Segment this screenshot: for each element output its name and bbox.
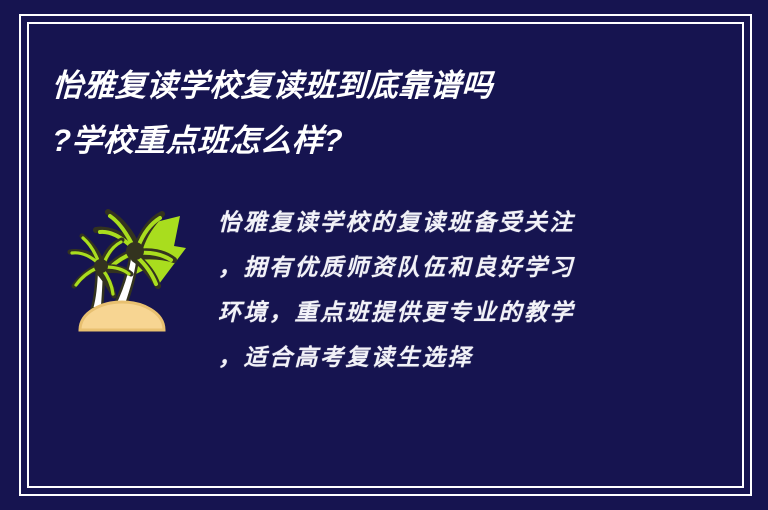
content-row: 怡雅复读学校的复读班备受关注 ，拥有优质师资队伍和良好学习 环境，重点班提供更专… (52, 196, 712, 380)
body-line-1: 怡雅复读学校的复读班备受关注 (218, 200, 712, 245)
palm-crown-large (126, 242, 144, 260)
page-title: 怡雅复读学校复读班到底靠谱吗 ?学校重点班怎么样? (52, 58, 672, 168)
title-line-1: 怡雅复读学校复读班到底靠谱吗 (51, 58, 673, 113)
title-line-2: ?学校重点班怎么样? (51, 113, 673, 168)
palm-trees-island-icon (52, 202, 202, 357)
poster-canvas: 怡雅复读学校复读班到底靠谱吗 ?学校重点班怎么样? (0, 0, 768, 510)
palm-crown-small (94, 259, 108, 273)
body-text-block: 怡雅复读学校的复读班备受关注 ，拥有优质师资队伍和良好学习 环境，重点班提供更专… (218, 196, 712, 380)
body-line-4: ，适合高考复读生选择 (218, 335, 712, 380)
body-line-3: 环境，重点班提供更专业的教学 (218, 290, 712, 335)
body-line-2: ，拥有优质师资队伍和良好学习 (218, 245, 712, 290)
